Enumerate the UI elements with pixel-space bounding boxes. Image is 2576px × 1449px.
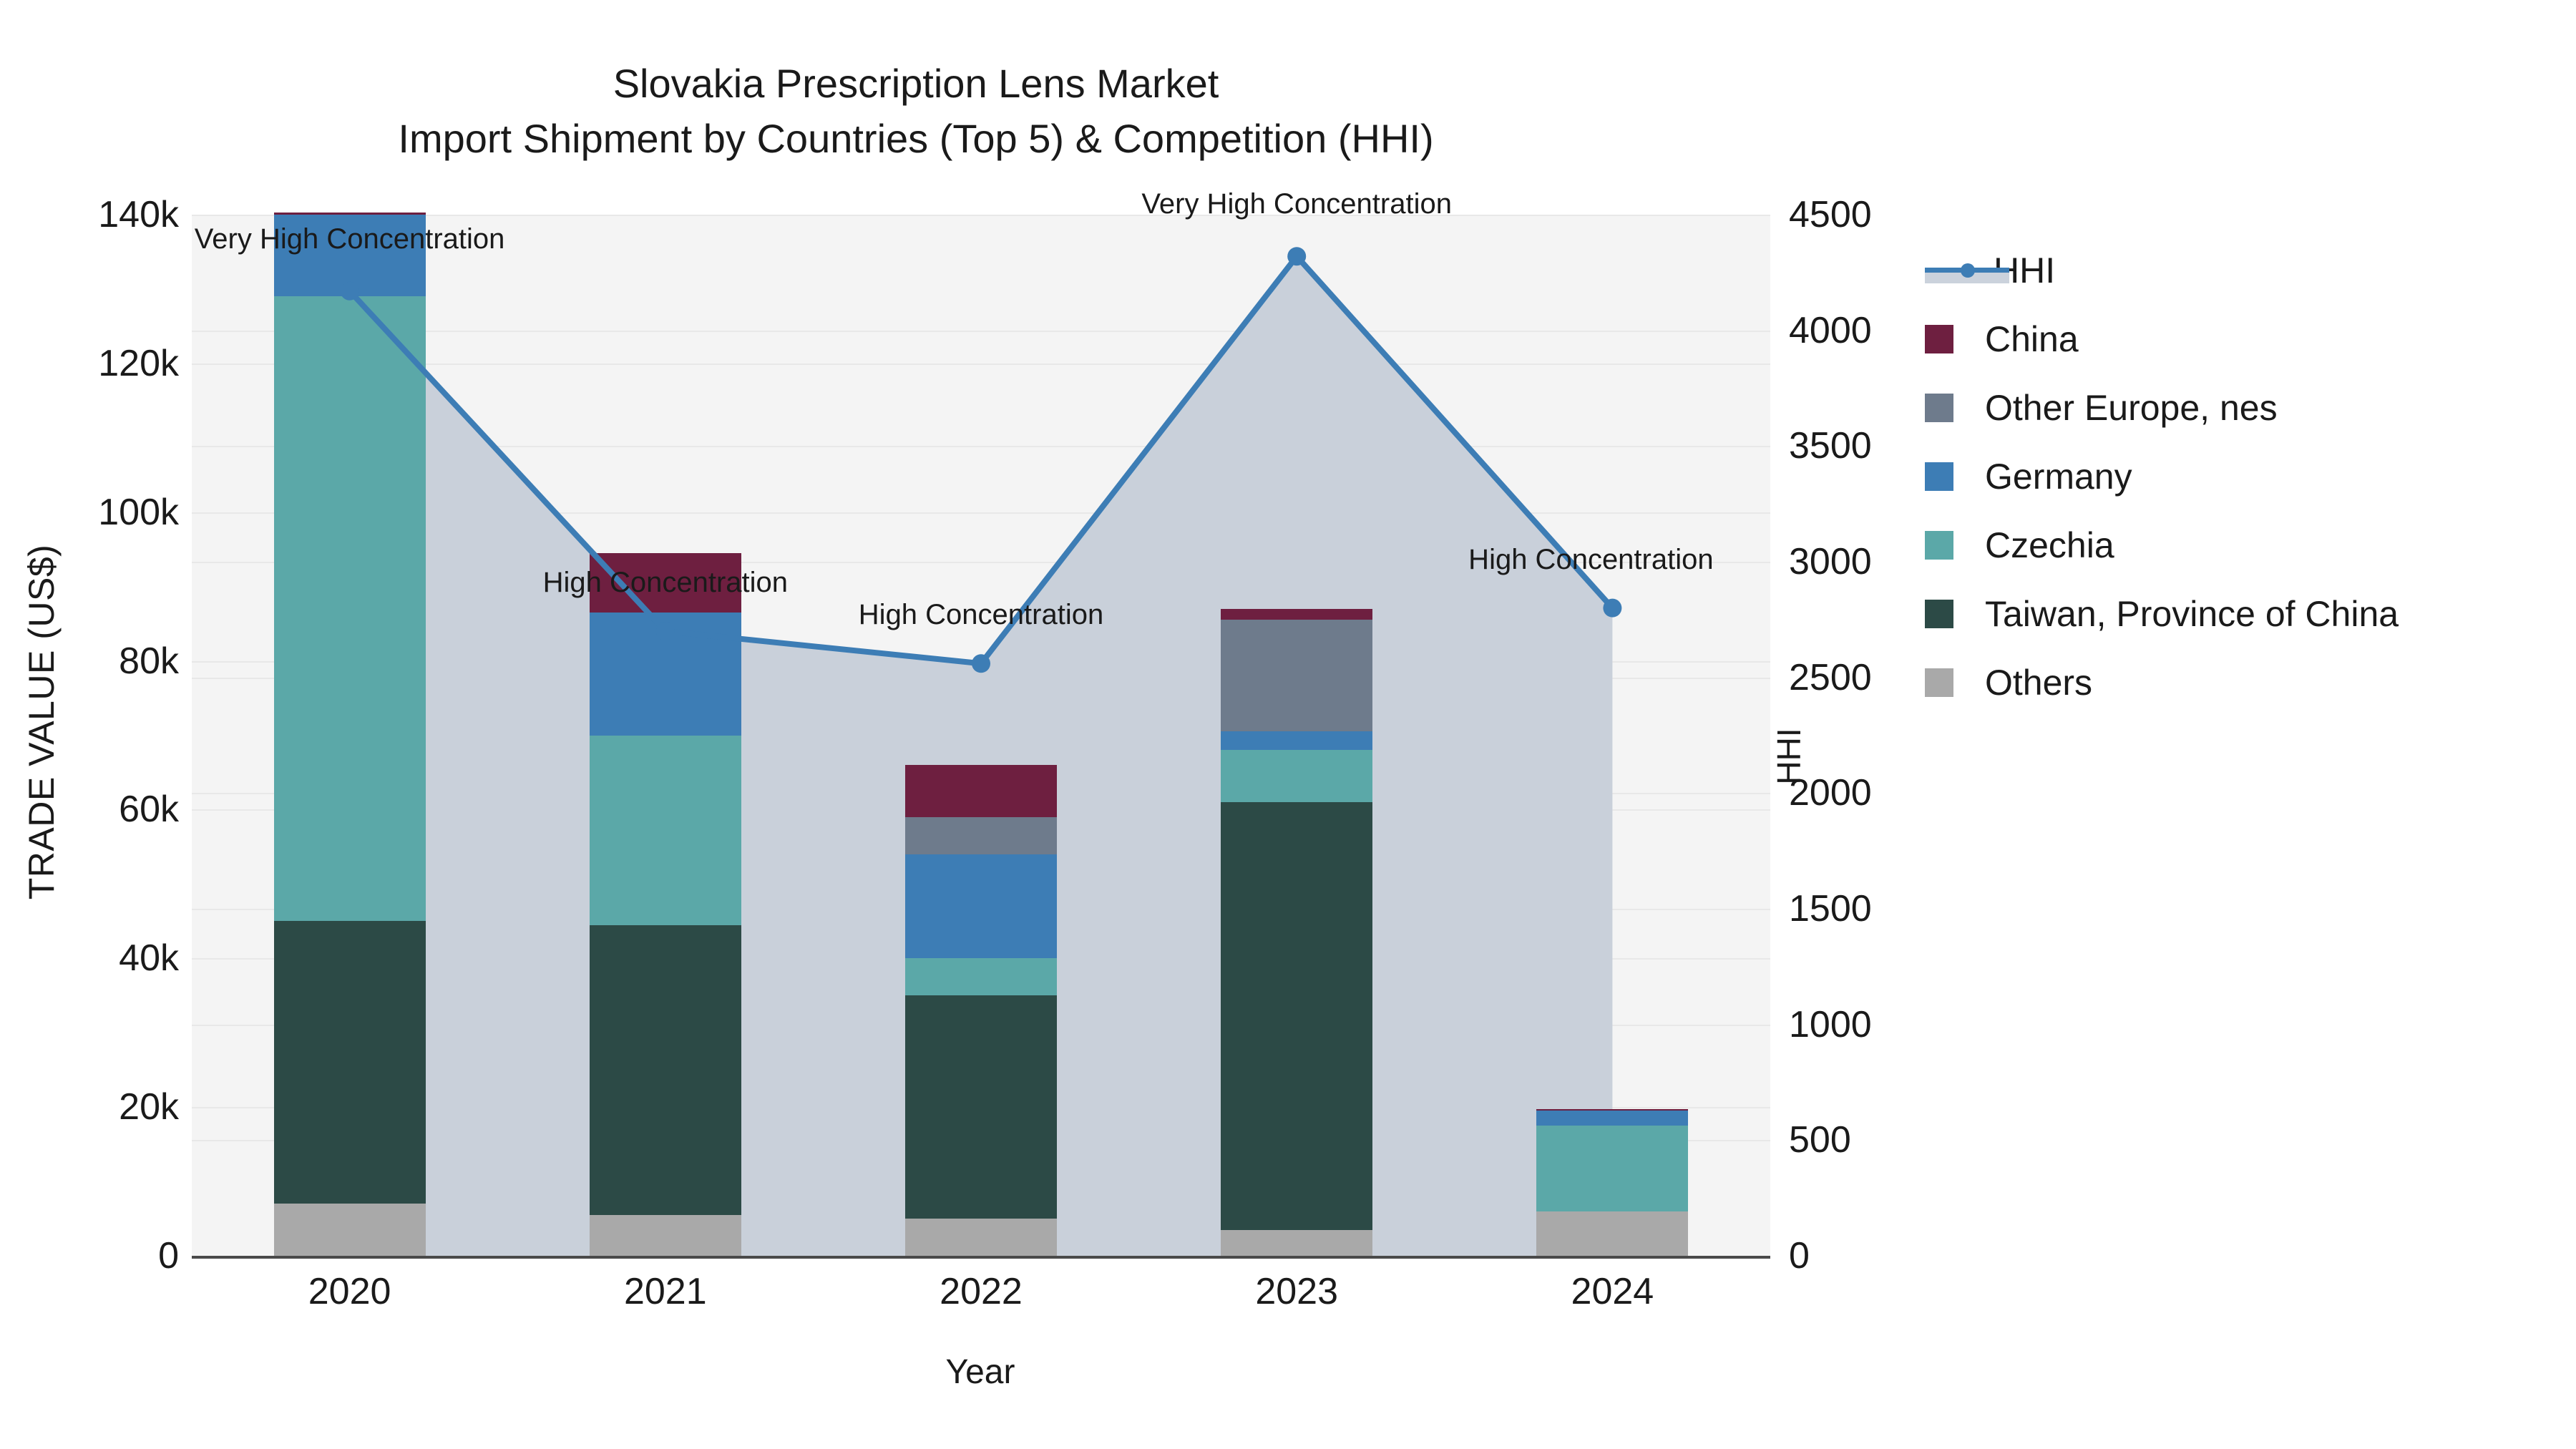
y-tick-label-secondary: 2000 [1789,771,1975,814]
x-axis-label: Year [200,1352,1760,1392]
hhi-line-icon [1925,256,2009,285]
x-tick-label: 2024 [1505,1270,1719,1313]
chart-title: Slovakia Prescription Lens Market [0,56,1832,111]
y-tick-label: 60k [0,788,179,831]
chart-subtitle: Import Shipment by Countries (Top 5) & C… [0,111,1832,166]
legend-label: China [1985,318,2079,360]
x-tick-label: 2021 [558,1270,773,1313]
hhi-marker[interactable] [1287,247,1306,265]
chart-figure: Slovakia Prescription Lens Market Import… [0,0,2576,1449]
legend-label: Others [1985,662,2092,703]
legend: HHIChinaOther Europe, nesGermanyCzechiaT… [1925,236,2555,717]
plot-area: Very High ConcentrationHigh Concentratio… [192,215,1770,1256]
concentration-annotation: Very High Concentration [195,223,505,255]
x-tick-label: 2020 [243,1270,457,1313]
plot-inner: Very High ConcentrationHigh Concentratio… [192,215,1770,1256]
concentration-annotation: Very High Concentration [1141,188,1452,220]
legend-item[interactable]: Taiwan, Province of China [1925,580,2555,648]
legend-label: Germany [1985,456,2132,497]
legend-swatch [1925,462,1953,491]
hhi-marker[interactable] [1603,599,1621,618]
legend-swatch [1925,668,1953,697]
x-axis-line [192,1256,1770,1259]
legend-label: Other Europe, nes [1985,387,2278,429]
y-tick-label: 140k [0,193,179,236]
legend-swatch [1925,600,1953,628]
concentration-annotation: High Concentration [543,567,788,599]
hhi-line-overlay [192,215,1770,1256]
hhi-marker[interactable] [341,282,359,301]
hhi-marker[interactable] [972,654,990,673]
legend-swatch [1925,325,1953,353]
legend-item[interactable]: Others [1925,648,2555,717]
legend-item[interactable]: Czechia [1925,511,2555,580]
y-tick-label-secondary: 0 [1789,1234,1975,1277]
y-tick-label: 100k [0,491,179,534]
legend-label: Taiwan, Province of China [1985,593,2399,635]
hhi-marker[interactable] [656,622,675,640]
y-tick-label: 40k [0,937,179,980]
x-tick-label: 2023 [1189,1270,1404,1313]
y-tick-label-secondary: 1000 [1789,1003,1975,1046]
y-tick-label-secondary: 1500 [1789,887,1975,930]
y-tick-label-secondary: 4500 [1789,193,1975,236]
legend-item[interactable]: Germany [1925,442,2555,511]
legend-item[interactable]: China [1925,305,2555,374]
chart-title-block: Slovakia Prescription Lens Market Import… [0,56,1832,167]
y-tick-label: 80k [0,640,179,683]
legend-swatch [1925,531,1953,560]
legend-item[interactable]: Other Europe, nes [1925,374,2555,442]
legend-label: Czechia [1985,525,2114,566]
y-tick-label-secondary: 500 [1789,1118,1975,1161]
legend-item[interactable]: HHI [1925,236,2555,305]
concentration-annotation: High Concentration [859,599,1103,631]
concentration-annotation: High Concentration [1468,544,1713,576]
legend-swatch [1925,394,1953,422]
y-tick-label: 20k [0,1085,179,1128]
y-tick-label: 0 [0,1234,179,1277]
y-tick-label: 120k [0,342,179,385]
x-tick-label: 2022 [874,1270,1088,1313]
